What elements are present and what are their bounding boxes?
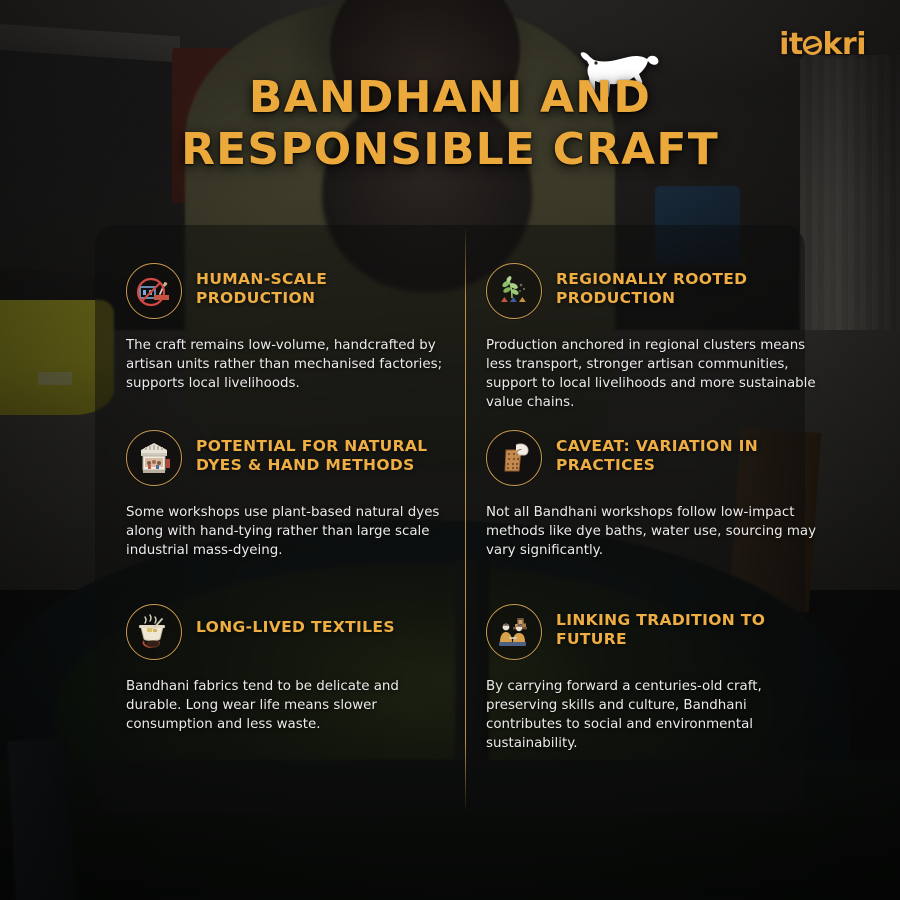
card-body: Not all Bandhani workshops follow low-im… <box>486 503 816 560</box>
card-title: HUMAN-SCALE PRODUCTION <box>196 270 451 308</box>
card-body: By carrying forward a centuries-old craf… <box>486 677 816 753</box>
card-header: REGIONALLY ROOTED PRODUCTION <box>486 263 822 319</box>
no-factory-icon <box>126 263 182 319</box>
plant-dye-icon <box>486 263 542 319</box>
card-header: HUMAN-SCALE PRODUCTION <box>126 263 462 319</box>
card-header: LINKING TRADITION TO FUTURE <box>486 604 822 660</box>
workshop-building-icon <box>126 430 182 486</box>
card-caveat-variation-in-practices: CAVEAT: VARIATION IN PRACTICES Not all B… <box>486 430 822 560</box>
hand-holding-fabric-icon <box>486 430 542 486</box>
card-header: CAVEAT: VARIATION IN PRACTICES <box>486 430 822 486</box>
itokri-logo[interactable]: itkri <box>779 30 866 60</box>
card-regionally-rooted-production: REGIONALLY ROOTED PRODUCTION Production … <box>486 263 822 412</box>
card-linking-tradition-to-future: LINKING TRADITION TO FUTURE By carrying … <box>486 604 822 753</box>
card-title: CAVEAT: VARIATION IN PRACTICES <box>556 437 811 475</box>
page-title: BANDHANI AND RESPONSIBLE CRAFT <box>0 72 900 176</box>
logo-mark-o <box>803 36 822 55</box>
card-title: REGIONALLY ROOTED PRODUCTION <box>556 270 811 308</box>
card-body: The craft remains low-volume, handcrafte… <box>126 336 456 393</box>
card-body: Bandhani fabrics tend to be delicate and… <box>126 677 456 734</box>
logo-text-i: it <box>779 27 803 62</box>
card-title: LINKING TRADITION TO FUTURE <box>556 611 811 649</box>
dye-pot-icon <box>126 604 182 660</box>
card-long-lived-textiles: LONG-LIVED TEXTILES Bandhani fabrics ten… <box>126 604 462 734</box>
card-body: Production anchored in regional clusters… <box>486 336 816 412</box>
card-title: POTENTIAL FOR NATURAL DYES & HAND METHOD… <box>196 437 451 475</box>
card-natural-dyes-hand-methods: POTENTIAL FOR NATURAL DYES & HAND METHOD… <box>126 430 462 560</box>
card-header: POTENTIAL FOR NATURAL DYES & HAND METHOD… <box>126 430 462 486</box>
artisans-teaching-icon <box>486 604 542 660</box>
title-line-1: BANDHANI AND <box>60 72 840 124</box>
infographic-canvas: itkri BANDHANI AND RESPONSIBLE CRAFT <box>0 0 900 900</box>
column-divider <box>465 228 466 810</box>
logo-text-kri: kri <box>822 27 866 62</box>
card-header: LONG-LIVED TEXTILES <box>126 604 462 660</box>
card-human-scale-production: HUMAN-SCALE PRODUCTION The craft remains… <box>126 263 462 393</box>
card-body: Some workshops use plant-based natural d… <box>126 503 456 560</box>
card-title: LONG-LIVED TEXTILES <box>196 618 395 637</box>
title-line-2: RESPONSIBLE CRAFT <box>60 124 840 176</box>
